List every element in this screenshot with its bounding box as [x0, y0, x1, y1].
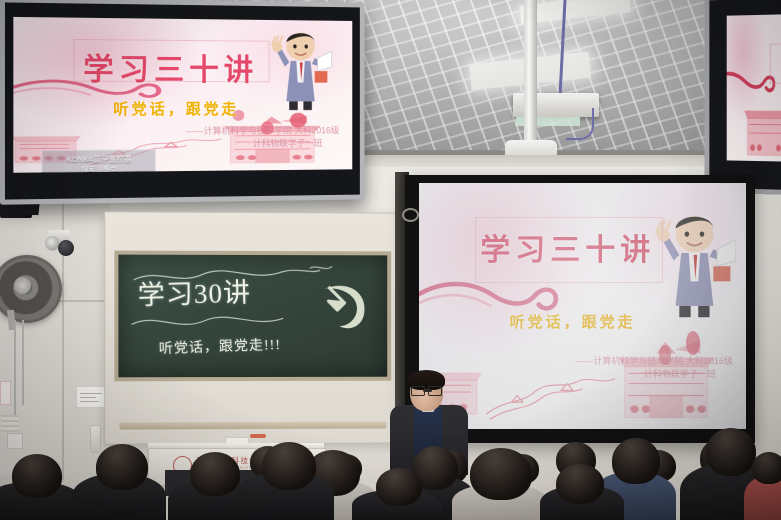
slide-credit: ——计算机科学与技术学院 大科2016级 计科物联学子一班	[91, 125, 340, 152]
konka-toast-line-2: 搜索设备中	[43, 165, 155, 173]
blackboard-line-2: 听党话，跟党走!!!	[159, 333, 282, 357]
audience-head	[706, 428, 756, 476]
eyeglasses-icon	[411, 386, 442, 394]
classroom-scene: 学习三十讲 听党话，跟党走 ——计算机科学与技术学院 大科2016级 计科物联学…	[0, 0, 781, 520]
audience-head	[752, 452, 781, 484]
audience-head	[556, 464, 604, 504]
wall-mounted-flat-tv[interactable]: 学习三十讲 听党话，跟党走 ——计算机科学与技术学院 大科2016级 计科物联学…	[0, 0, 365, 205]
cartoon-leader-waving-icon	[651, 193, 736, 336]
cartoon-leader-waving-icon	[257, 26, 342, 113]
audience-head	[376, 468, 422, 506]
projected-slide-credit: ——计算机科学与技术学院 大科2016级 计科物联学子一班	[491, 355, 733, 381]
camera-mount-pole	[524, 0, 537, 148]
wall-mounted-flat-tv-secondary[interactable]	[705, 0, 781, 196]
slide-title: 学习三十讲	[77, 44, 264, 89]
fan-pull-cord[interactable]	[14, 320, 16, 420]
projector-cable-loop	[566, 108, 594, 140]
audience-head	[612, 438, 660, 484]
tiananmen-illustration-icon	[727, 94, 781, 162]
projected-credit-line-1: ——计算机科学与技术学院 大科2016级	[491, 355, 733, 368]
slide-title-frame	[770, 43, 781, 84]
wall-security-camera-dome	[58, 240, 74, 256]
tv-screen: 学习三十讲 听党话，跟党走 ——计算机科学与技术学院 大科2016级 计科物联学…	[13, 17, 352, 173]
pull-down-projection-screen: 学习三十讲 听党话，跟党走 ——计算机科学与技术学院 大科2016级 计科物联学…	[419, 183, 746, 429]
blackboard-frame: 学习30讲 听党话，跟党走!!!	[104, 211, 401, 444]
blackboard-line-1: 学习30讲	[137, 271, 251, 313]
tv-screen-secondary	[727, 14, 781, 162]
audience-head	[12, 454, 62, 498]
blackboard: 学习30讲 听党话，跟党走!!!	[114, 251, 391, 382]
slide-subtitle: 听党话，跟党走	[91, 98, 261, 119]
audience-head	[96, 444, 148, 490]
audience-head	[470, 448, 532, 500]
projected-credit-line-2: 计科物联学子一班	[491, 368, 733, 381]
chalk-writing: 学习30讲 听党话，跟党走!!!	[118, 255, 387, 378]
fan-hub	[14, 277, 31, 294]
audience-head	[262, 442, 316, 490]
audience-head	[190, 452, 240, 496]
slide-artwork-secondary	[727, 14, 781, 162]
screen-hook	[402, 208, 419, 222]
fan-pull-cord[interactable]	[22, 320, 24, 405]
projected-slide-artwork: 学习三十讲 听党话，跟党走 ——计算机科学与技术学院 大科2016级 计科物联学…	[419, 183, 746, 429]
projected-slide-title: 学习三十讲	[478, 225, 658, 269]
audience	[0, 424, 781, 520]
konka-toast-line-1: KONKA蓝牙遥控器	[43, 153, 155, 166]
wall-notice-sheet	[76, 386, 106, 408]
wall-sign	[0, 381, 11, 405]
konka-bluetooth-toast: KONKA蓝牙遥控器 搜索设备中 请将遥控器靠近电视机	[42, 149, 156, 173]
projected-slide-subtitle: 听党话，跟党走	[491, 311, 655, 332]
